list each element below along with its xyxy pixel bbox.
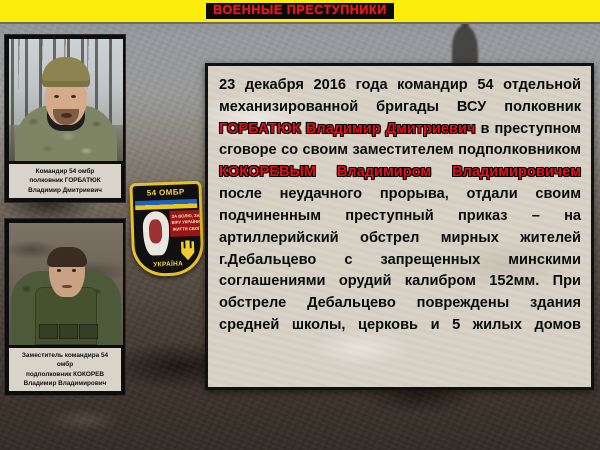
banner-title: ВОЕННЫЕ ПРЕСТУПНИКИ (206, 3, 394, 19)
officer-caption-2: Заместитель командира 54 омбр подполковн… (9, 348, 121, 391)
officer-photo-2 (9, 223, 123, 345)
photo2-pouch-2 (59, 324, 78, 339)
caption1-line1: Командир 54 омбр (11, 167, 119, 176)
header-banner: ВОЕННЫЕ ПРЕСТУПНИКИ (0, 0, 600, 24)
patch-motto: ЗА ВОЛЮ, ЗА ВІРУ УКРАЇНИ ЖИТТЯ СВОЇ (169, 213, 202, 233)
caption1-line3: Владимир Дмитриевич (11, 186, 119, 195)
caption2-line4: Владимир Владимирович (11, 379, 119, 388)
highlighted-name-kokorev: КОКОРЕВЫМ Владимиром Владимировичем (219, 164, 581, 180)
caption1-line2: полковник ГОРБАТЮК (11, 176, 119, 185)
caption2-line3: подполковник КОКОРЕВ (11, 370, 119, 379)
photo2-hair (47, 247, 87, 267)
trident-icon (178, 240, 197, 261)
officer-photo-1 (9, 39, 123, 161)
photo2-pouch-3 (79, 324, 98, 339)
photo2-mouth (62, 285, 72, 288)
patch-unit-label: 54 ОМБР (133, 187, 199, 198)
poster-root: ВОЕННЫЕ ПРЕСТУПНИКИ Командир 54 омбр пол… (0, 0, 600, 450)
photo1-eye-right (71, 95, 76, 98)
unit-patch-emblem: 54 ОМБР ЗА ВОЛЮ, ЗА ВІРУ УКРАЇНИ ЖИТТЯ С… (129, 181, 204, 277)
officer-card-1: Командир 54 омбр полковник ГОРБАТЮК Влад… (4, 34, 126, 203)
photo2-eye-right (72, 269, 76, 272)
caption2-line2: омбр (11, 360, 119, 369)
cossack-figure-icon (142, 211, 170, 256)
photo2-eye-left (57, 269, 61, 272)
panel-body-text: 23 декабря 2016 года командир 54 отдельн… (219, 75, 581, 337)
officer-caption-1: Командир 54 омбр полковник ГОРБАТЮК Влад… (9, 164, 121, 198)
main-text-panel: 23 декабря 2016 года командир 54 отдельн… (205, 63, 594, 390)
officer-card-2: Заместитель командира 54 омбр подполковн… (4, 218, 126, 396)
ukraine-flag-icon (135, 199, 197, 210)
photo2-pouch-1 (39, 324, 58, 339)
text-segment-3: после неудачного прорыва, отдали своим п… (219, 186, 581, 333)
text-segment-1: 23 декабря 2016 года командир 54 отдельн… (219, 77, 581, 115)
caption2-line1: Заместитель командира 54 (11, 351, 119, 360)
highlighted-name-gorbatyuk: ГОРБАТЮК Владимир Дмитриевич (219, 121, 475, 137)
photo1-eye-left (54, 95, 59, 98)
patch-country-label: УКРАЇНА (135, 260, 201, 269)
photo1-mouth (61, 113, 72, 118)
